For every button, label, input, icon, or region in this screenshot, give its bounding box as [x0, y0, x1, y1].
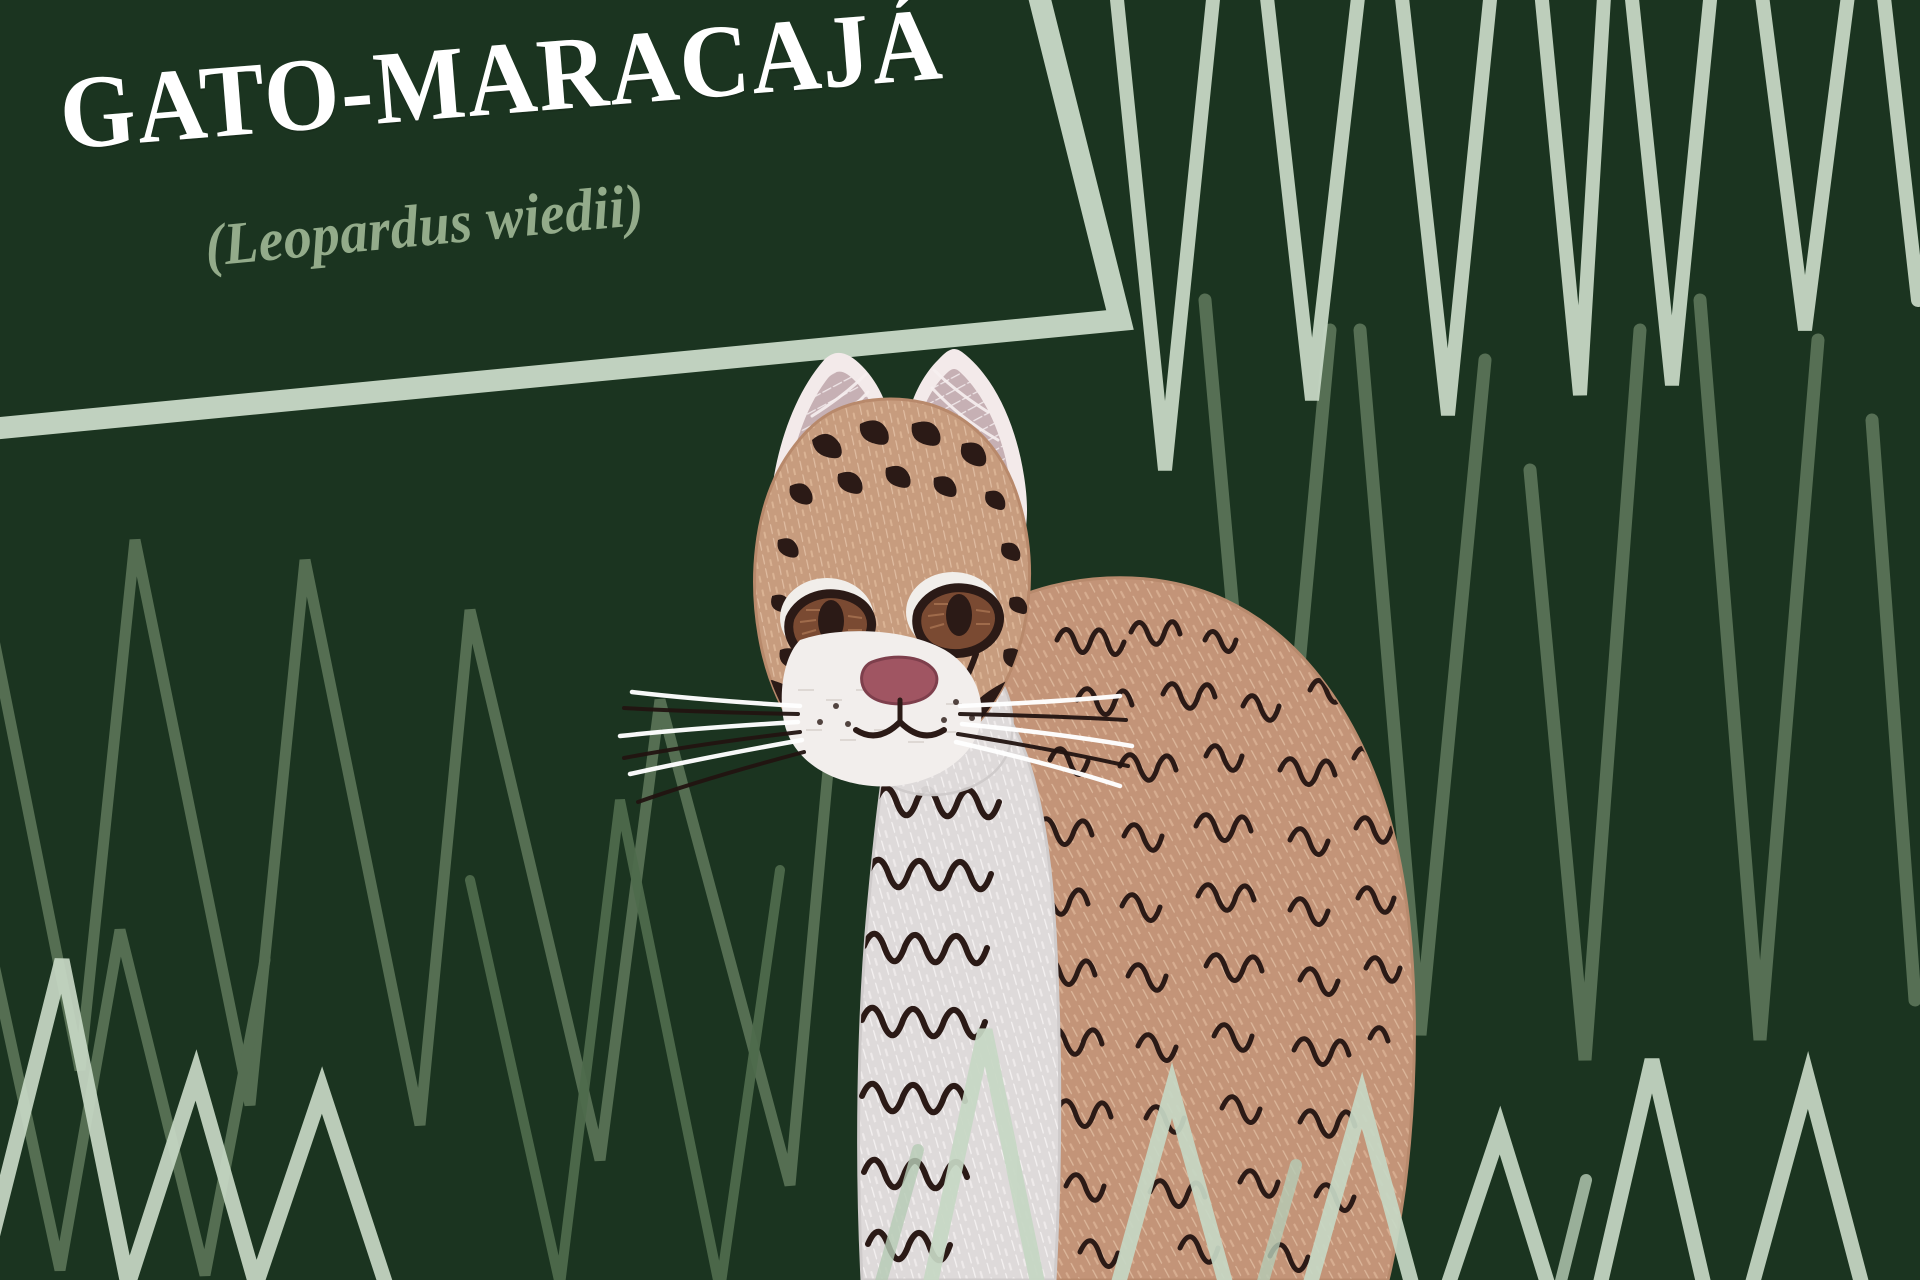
species-card: GATO-MARACAJÁ (Leopardus wiedii): [0, 0, 1920, 1280]
foreground-grass-layer: [0, 0, 1920, 1280]
pale-sage-foreground-zigzag-icon: [0, 960, 1862, 1280]
